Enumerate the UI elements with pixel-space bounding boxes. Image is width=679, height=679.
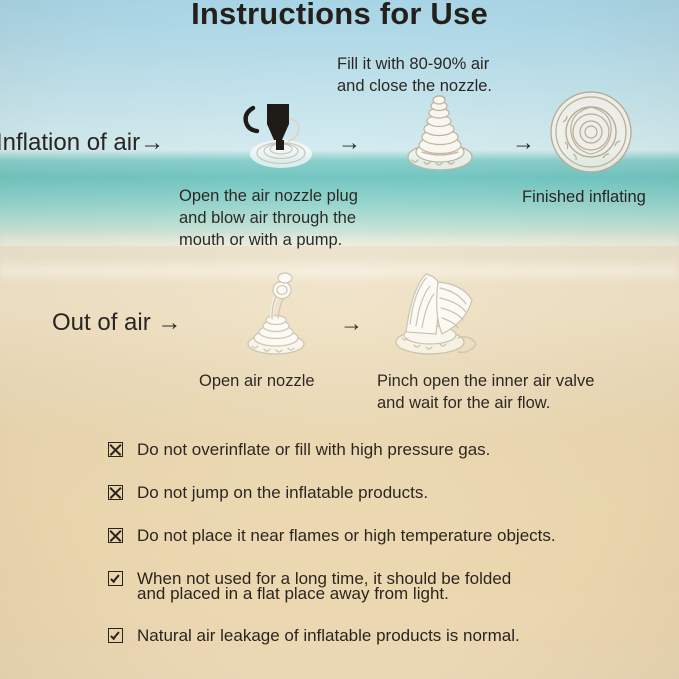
- inflated-valve-illustration: [398, 82, 482, 174]
- deflation-step1-caption: Open air nozzle: [199, 371, 315, 393]
- checklist-item-label: Natural air leakage of inflatable produc…: [137, 626, 520, 646]
- right-arrow-icon: →: [338, 131, 361, 154]
- air-pump-nozzle-illustration: [233, 82, 329, 174]
- checklist-item-label: Do not overinflate or fill with high pre…: [137, 440, 490, 460]
- pinched-valve-illustration: [386, 266, 488, 358]
- closed-valve-top-illustration: [545, 90, 637, 174]
- instructions-poster: Instructions for Use Inflation of air→ F…: [0, 0, 679, 679]
- open-nozzle-illustration: [238, 268, 314, 356]
- deflation-row-label: Out of air →: [52, 309, 181, 337]
- inflation-row-label: Inflation of air→: [0, 129, 164, 157]
- checklist-item: Do not place it near flames or high temp…: [108, 526, 667, 546]
- right-arrow-icon: →: [512, 131, 535, 154]
- x-box-icon: [108, 485, 123, 500]
- check-box-icon: [108, 571, 123, 586]
- check-box-icon: [108, 628, 123, 643]
- checklist-item-label: Do not jump on the inflatable products.: [137, 483, 428, 503]
- deflation-step2-caption: Pinch open the inner air valve and wait …: [377, 371, 594, 415]
- inflation-step1-caption: Open the air nozzle plug and blow air th…: [179, 186, 358, 252]
- checklist-item: Do not overinflate or fill with high pre…: [108, 440, 667, 460]
- checklist-item: Natural air leakage of inflatable produc…: [108, 626, 667, 646]
- checklist-item: Do not jump on the inflatable products.: [108, 483, 667, 503]
- checklist-item-label: Do not place it near flames or high temp…: [137, 526, 556, 546]
- warning-checklist: Do not overinflate or fill with high pre…: [108, 440, 667, 669]
- page-title: Instructions for Use: [0, 0, 679, 32]
- checklist-item-continuation: and placed in a flat place away from lig…: [137, 584, 667, 604]
- sand-highlight-streak: [0, 258, 679, 284]
- right-arrow-icon: →: [340, 312, 363, 335]
- inflation-step3-caption: Finished inflating: [522, 187, 646, 209]
- x-box-icon: [108, 442, 123, 457]
- x-box-icon: [108, 528, 123, 543]
